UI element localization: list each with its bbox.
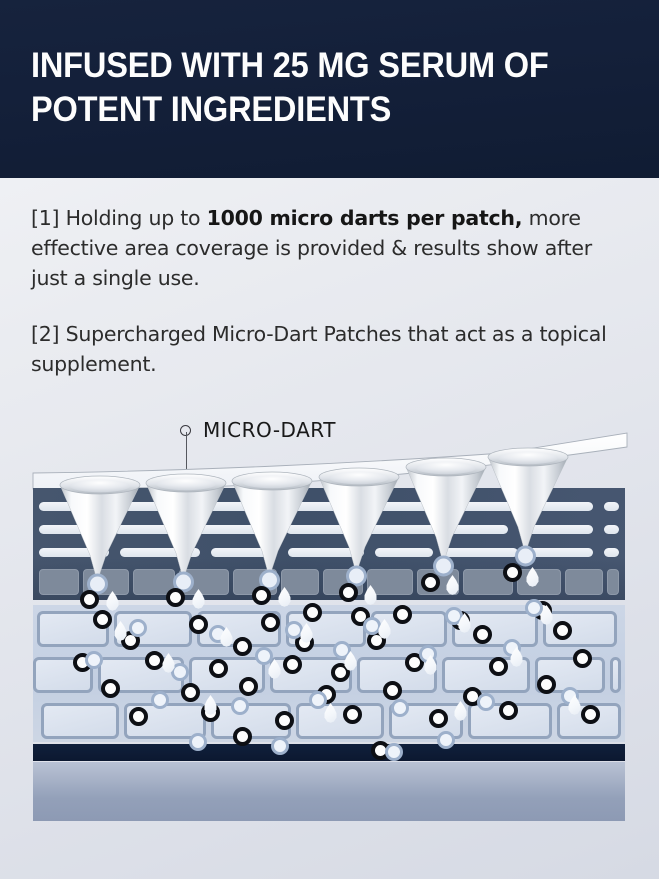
serum-particle-blue-ring [271, 737, 289, 755]
infographic-page: INFUSED WITH 25 MG SERUM OF POTENT INGRE… [0, 0, 659, 879]
serum-particle-dark-ring [473, 625, 492, 644]
serum-particle-blue-ring [189, 733, 207, 751]
serum-particle-dark-ring [275, 711, 294, 730]
serum-particle-blue-ring [525, 599, 543, 617]
serum-particle-dark-ring [339, 583, 358, 602]
serum-particle-dark-ring [166, 588, 185, 607]
serum-particle-dark-ring [93, 610, 112, 629]
paragraph-1-bold: 1000 micro darts per patch, [207, 206, 523, 230]
serum-particle-blue-ring [391, 699, 409, 717]
serum-particle-dark-ring [261, 613, 280, 632]
serum-particle-blue-ring [255, 647, 273, 665]
serum-particle-blue-ring [477, 693, 495, 711]
serum-particle-dark-ring [252, 586, 271, 605]
serum-particle-dark-ring [383, 681, 402, 700]
serum-particle-dark-ring [421, 573, 440, 592]
serum-particle-dark-ring [189, 615, 208, 634]
serum-particle-blue-ring [85, 651, 103, 669]
serum-particle-blue-ring [231, 697, 249, 715]
paragraph-1: [1] Holding up to 1000 micro darts per p… [31, 203, 611, 293]
body-copy: [1] Holding up to 1000 micro darts per p… [31, 203, 611, 379]
serum-particle-dark-ring [553, 621, 572, 640]
serum-particle-dark-ring [581, 705, 600, 724]
header-banner: INFUSED WITH 25 MG SERUM OF POTENT INGRE… [0, 0, 659, 178]
serum-particle-dark-ring [393, 605, 412, 624]
serum-particle-dark-ring [145, 651, 164, 670]
serum-particle-blue-ring [151, 691, 169, 709]
serum-particle-blue-ring [363, 617, 381, 635]
paragraph-2-marker: [2] [31, 322, 59, 346]
micro-dart [319, 468, 399, 585]
micro-dart [146, 474, 226, 591]
serum-particle-blue-ring [309, 691, 327, 709]
serum-particle-dark-ring [303, 603, 322, 622]
paragraph-1-marker: [1] [31, 206, 59, 230]
micro-dart [232, 472, 312, 589]
micro-dart [406, 458, 486, 575]
serum-particle-dark-ring [233, 727, 252, 746]
serum-particle-dark-ring [239, 677, 258, 696]
serum-particle-dark-ring [283, 655, 302, 674]
serum-particle-dark-ring [429, 709, 448, 728]
serum-particle-blue-ring [385, 743, 403, 761]
paragraph-2: [2] Supercharged Micro-Dart Patches that… [31, 319, 611, 379]
paragraph-2-text: Supercharged Micro-Dart Patches that act… [31, 322, 607, 376]
serum-particle-dark-ring [101, 679, 120, 698]
serum-particle-dark-ring [181, 683, 200, 702]
serum-particle-dark-ring [573, 649, 592, 668]
serum-particle-dark-ring [80, 590, 99, 609]
skin-cross-section-diagram [33, 455, 627, 821]
serum-particle-dark-ring [499, 701, 518, 720]
serum-particle-dark-ring [233, 637, 252, 656]
micro-dart [488, 448, 568, 565]
callout-label: MICRO-DART [203, 418, 336, 442]
paragraph-1-lead: Holding up to [59, 206, 206, 230]
serum-particle-dark-ring [503, 563, 522, 582]
serum-particle-dark-ring [343, 705, 362, 724]
serum-particle-dark-ring [489, 657, 508, 676]
serum-particle-blue-ring [285, 621, 303, 639]
page-title: INFUSED WITH 25 MG SERUM OF POTENT INGRE… [31, 44, 596, 132]
serum-particle-blue-ring [129, 619, 147, 637]
micro-dart [60, 476, 140, 593]
serum-particle-blue-ring [437, 731, 455, 749]
serum-particle-dark-ring [129, 707, 148, 726]
serum-particle-dark-ring [209, 659, 228, 678]
callout-micro-dart: MICRO-DART [180, 418, 336, 442]
serum-particle-dark-ring [537, 675, 556, 694]
